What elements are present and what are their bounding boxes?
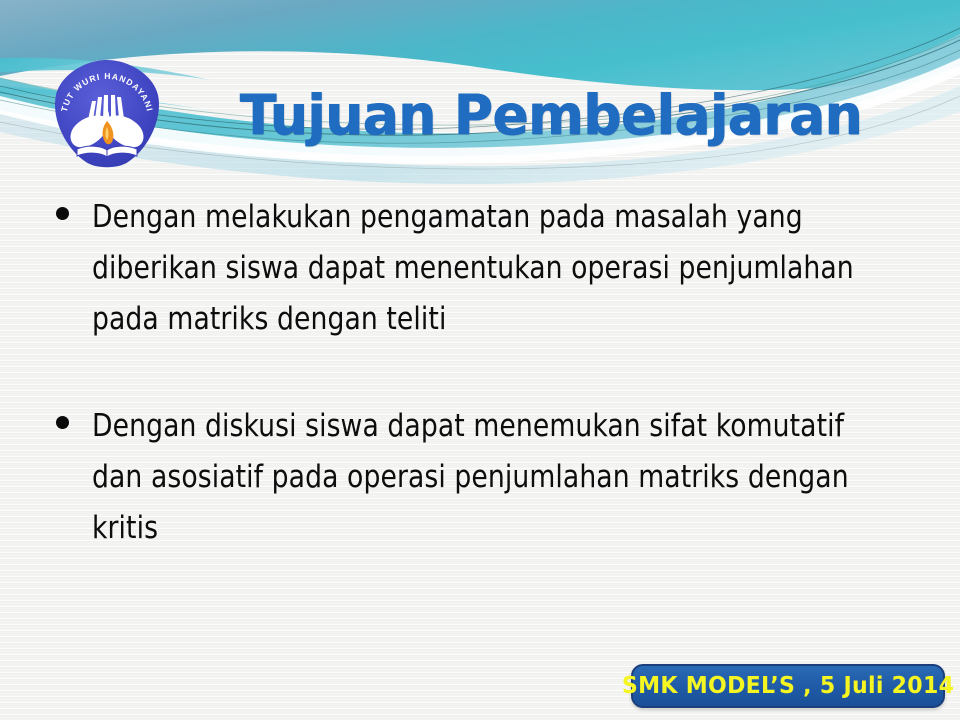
list-item: Dengan melakukan pengamatan pada masalah… xyxy=(56,192,936,345)
list-item: Dengan diskusi siswa dapat menemukan sif… xyxy=(56,401,936,554)
bullet-disc-icon xyxy=(56,416,69,429)
footer-badge: SMK MODEL’S , 5 Juli 2014 xyxy=(631,664,945,708)
tut-wuri-handayani-logo: TUT WURI HANDAYANI xyxy=(50,57,164,173)
bullet-list: Dengan melakukan pengamatan pada masalah… xyxy=(56,192,936,554)
bullet-disc-icon xyxy=(56,207,69,220)
bullet-text: Dengan diskusi siswa dapat menemukan sif… xyxy=(92,401,898,554)
presentation-slide: TUT WURI HANDAYANI Tujuan Pembe xyxy=(0,0,960,720)
bullet-text: Dengan melakukan pengamatan pada masalah… xyxy=(92,192,898,345)
footer-badge-label: SMK MODEL’S , 5 Juli 2014 xyxy=(622,673,954,699)
slide-title: Tujuan Pembelajaran xyxy=(240,82,880,152)
